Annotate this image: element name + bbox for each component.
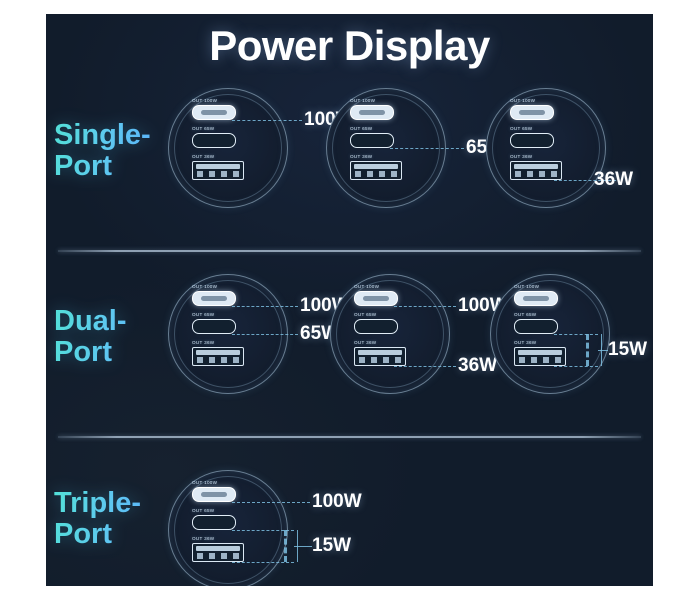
port-usb-c-100w: OUT 100W [190,284,264,306]
usb-c-port-icon [514,319,558,334]
port-usb-a-36w: OUT 36W [190,340,264,366]
port-usb-c-65w: OUT 65W [190,508,264,530]
charger-unit: OUT 100W OUT 65W OUT 36W [490,274,608,392]
port-caption: OUT 36W [514,340,586,345]
row-label-dual-port: Dual- Port [54,306,174,369]
port-caption: OUT 100W [192,480,264,485]
port-usb-c-65w: OUT 65W [190,126,264,148]
callout-lead-line [394,366,456,368]
port-caption: OUT 100W [350,98,422,103]
callout-wattage: 36W [594,169,633,191]
port-caption: OUT 36W [192,536,264,541]
port-usb-a-36w: OUT 36W [512,340,586,366]
row-label-line2: Port [54,337,174,368]
usb-c-port-icon [192,133,236,148]
usb-c-port-icon [192,487,236,502]
port-usb-a-36w: OUT 36W [190,536,264,562]
row-dual-port: Dual- Port OUT 100W OUT 65W OUT 36W [46,274,653,434]
port-usb-a-36w: OUT 36W [508,154,582,180]
usb-a-port-icon [192,347,244,366]
port-usb-c-100w: OUT 100W [508,98,582,120]
port-usb-c-65w: OUT 65W [512,312,586,334]
callout-lead-line [232,334,298,336]
charger-unit: OUT 100W OUT 65W OUT 36W [486,88,604,206]
callout-lead-line [232,562,294,564]
port-usb-c-65w: OUT 65W [348,126,422,148]
port-caption: OUT 65W [510,126,582,131]
port-stack: OUT 100W OUT 65W OUT 36W [190,98,264,186]
port-caption: OUT 65W [514,312,586,317]
usb-a-port-icon [354,347,406,366]
row-triple-port: Triple- Port OUT 100W OUT 65W OUT 36W [46,460,653,586]
callout-wattage: 100W [312,491,362,513]
callout-bracket-stem [598,350,608,352]
port-stack: OUT 100W OUT 65W OUT 36W [190,480,264,568]
usb-c-port-icon [192,515,236,530]
port-usb-c-100w: OUT 100W [190,98,264,120]
port-caption: OUT 65W [354,312,426,317]
callout-lead-line [394,306,456,308]
port-stack: OUT 100W OUT 65W OUT 36W [508,98,582,186]
usb-c-port-icon [354,319,398,334]
usb-a-port-icon [192,161,244,180]
port-caption: OUT 36W [350,154,422,159]
port-caption: OUT 65W [192,126,264,131]
usb-c-port-icon [354,291,398,306]
port-usb-c-65w: OUT 65W [352,312,426,334]
row-label-line1: Single- [54,120,174,151]
port-usb-c-100w: OUT 100W [190,480,264,502]
usb-c-port-icon [350,105,394,120]
row-label-line1: Dual- [54,306,174,337]
port-usb-a-36w: OUT 36W [348,154,422,180]
section-divider-2 [58,436,641,438]
usb-a-port-icon [510,161,562,180]
usb-c-port-icon [510,133,554,148]
port-caption: OUT 36W [354,340,426,345]
port-caption: OUT 36W [192,340,264,345]
port-usb-c-65w: OUT 65W [190,312,264,334]
usb-c-port-icon [510,105,554,120]
port-usb-a-36w: OUT 36W [352,340,426,366]
usb-c-port-icon [350,133,394,148]
port-caption: OUT 65W [192,508,264,513]
callout-wattage: 15W [608,339,647,361]
port-caption: OUT 100W [510,98,582,103]
charger-unit: OUT 100W OUT 65W OUT 36W [330,274,448,392]
callout-lead-line [232,306,298,308]
power-display-panel: Power Display Single- Port OUT 100W OUT … [46,14,653,586]
port-stack: OUT 100W OUT 65W OUT 36W [512,284,586,372]
usb-c-port-icon [192,319,236,334]
charger-unit: OUT 100W OUT 65W OUT 36W [168,470,286,586]
port-caption: OUT 65W [350,126,422,131]
row-label-single-port: Single- Port [54,120,174,183]
row-label-line2: Port [54,519,174,550]
infographic-root: Power Display Single- Port OUT 100W OUT … [0,0,700,600]
port-caption: OUT 100W [192,284,264,289]
port-usb-a-36w: OUT 36W [190,154,264,180]
callout-wattage: 15W [312,535,351,557]
callout-lead-line [390,148,464,150]
usb-c-port-icon [192,291,236,306]
port-usb-c-100w: OUT 100W [352,284,426,306]
port-caption: OUT 36W [510,154,582,159]
usb-a-port-icon [514,347,566,366]
port-caption: OUT 36W [192,154,264,159]
port-usb-c-100w: OUT 100W [348,98,422,120]
row-label-line2: Port [54,151,174,182]
row-label-line1: Triple- [54,488,174,519]
usb-a-port-icon [192,543,244,562]
charger-unit: OUT 100W OUT 65W OUT 36W [326,88,444,206]
usb-a-port-icon [350,161,402,180]
section-divider-1 [58,250,641,252]
port-caption: OUT 100W [192,98,264,103]
port-caption: OUT 100W [514,284,586,289]
charger-unit: OUT 100W OUT 65W OUT 36W [168,88,286,206]
row-single-port: Single- Port OUT 100W OUT 65W OUT 3 [46,88,653,248]
row-label-triple-port: Triple- Port [54,488,174,551]
callout-bracket-stem [294,546,312,548]
port-caption: OUT 65W [192,312,264,317]
port-caption: OUT 100W [354,284,426,289]
usb-c-port-icon [192,105,236,120]
charger-unit: OUT 100W OUT 65W OUT 36W [168,274,286,392]
port-usb-c-100w: OUT 100W [512,284,586,306]
port-stack: OUT 100W OUT 65W OUT 36W [190,284,264,372]
callout-lead-line [232,120,302,122]
callout-lead-line [554,366,598,368]
port-stack: OUT 100W OUT 65W OUT 36W [348,98,422,186]
port-usb-c-65w: OUT 65W [508,126,582,148]
page-title: Power Display [46,22,653,70]
callout-lead-line [232,502,310,504]
port-stack: OUT 100W OUT 65W OUT 36W [352,284,426,372]
usb-c-port-icon [514,291,558,306]
